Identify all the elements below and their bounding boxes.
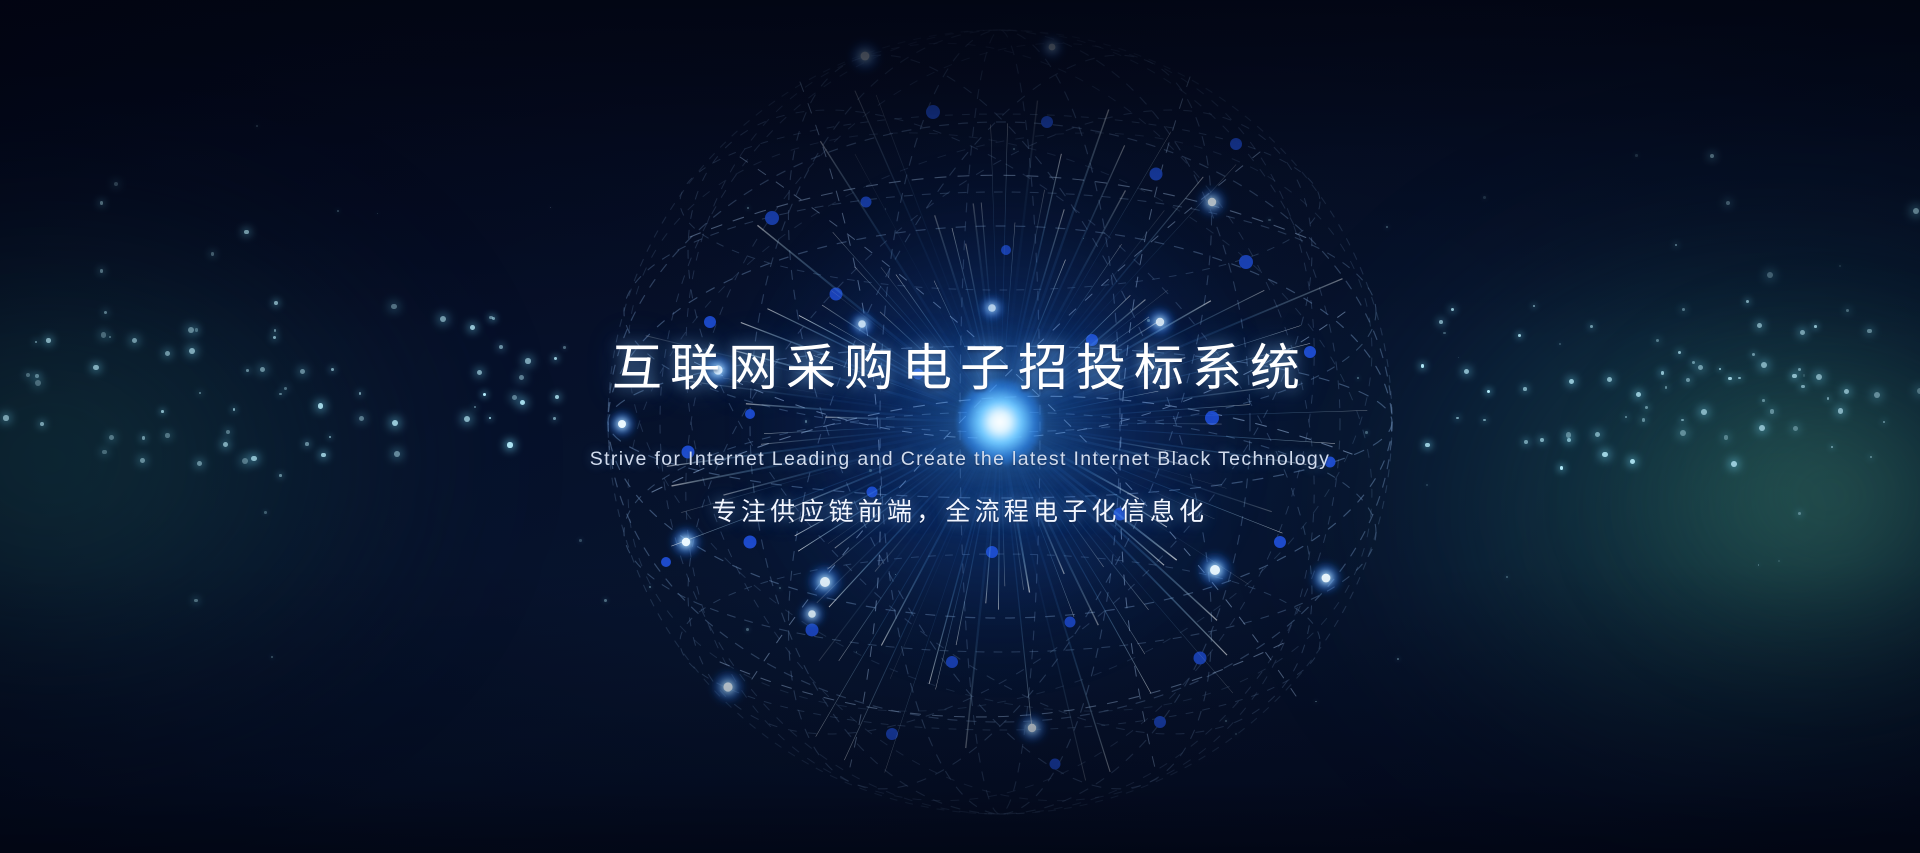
vignette-corners xyxy=(0,0,1920,853)
hero-banner: 互联网采购电子招投标系统 Strive for Internet Leading… xyxy=(0,0,1920,853)
